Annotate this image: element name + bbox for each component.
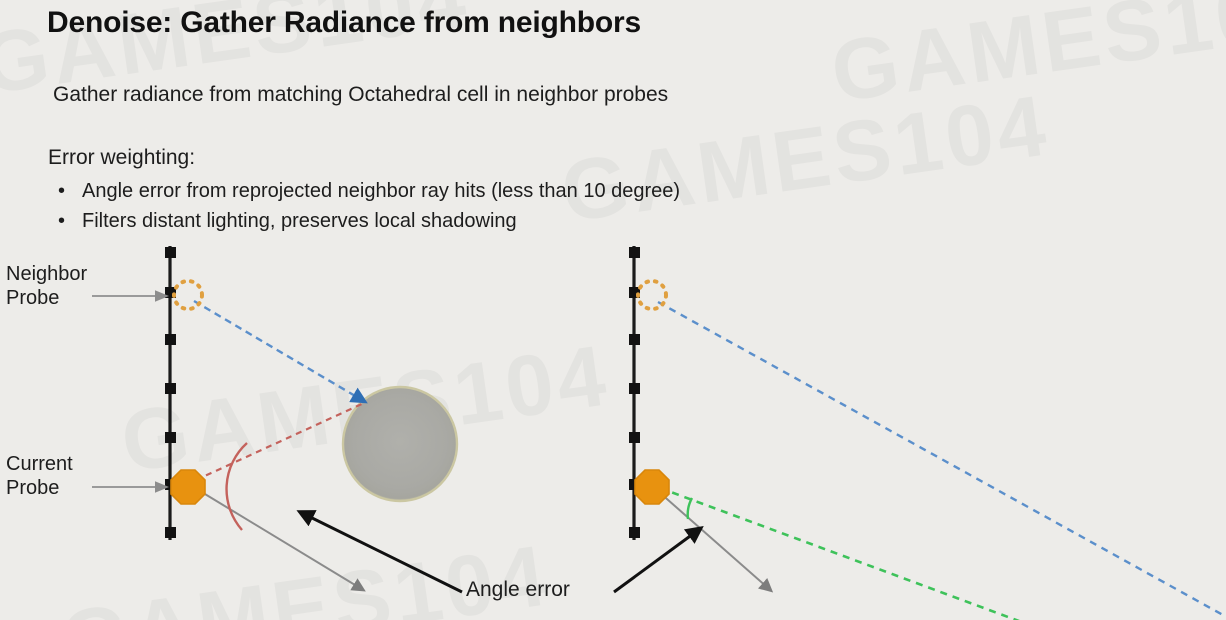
wall-tick <box>629 247 640 258</box>
wall-tick <box>629 334 640 345</box>
wall-tick <box>165 527 176 538</box>
left-panel <box>92 246 457 588</box>
current-probe-marker <box>171 470 205 504</box>
angle-error-arc <box>688 498 692 519</box>
angle-error-callout-left-arrow <box>304 514 462 592</box>
wall-tick <box>165 334 176 345</box>
current-probe-reprojected-ray <box>196 403 364 480</box>
current-probe-direction-ray <box>195 488 360 588</box>
right-panel <box>629 246 1226 620</box>
neighbor-probe-ray <box>194 301 362 400</box>
wall-tick <box>629 527 640 538</box>
current-probe-direction-ray <box>659 492 768 588</box>
wall-tick <box>165 432 176 443</box>
wall-tick <box>165 383 176 394</box>
wall-tick <box>629 383 640 394</box>
neighbor-probe-marker <box>638 281 666 309</box>
current-probe-label: Current Probe <box>6 452 73 500</box>
neighbor-probe-ray <box>658 302 1226 620</box>
angle-error-callout-right-arrow <box>614 531 697 592</box>
wall-tick <box>165 247 176 258</box>
current-probe-marker <box>635 470 669 504</box>
current-probe-reprojected-ray <box>660 488 1226 620</box>
wall-tick <box>629 432 640 443</box>
neighbor-probe-marker <box>174 281 202 309</box>
neighbor-probe-label: Neighbor Probe <box>6 262 87 310</box>
slide-root: GAMES104 GAMES104 GAMES104 GAMES104 GAME… <box>0 0 1226 620</box>
probe-diagram <box>0 0 1226 620</box>
angle-error-label: Angle error <box>466 578 570 602</box>
